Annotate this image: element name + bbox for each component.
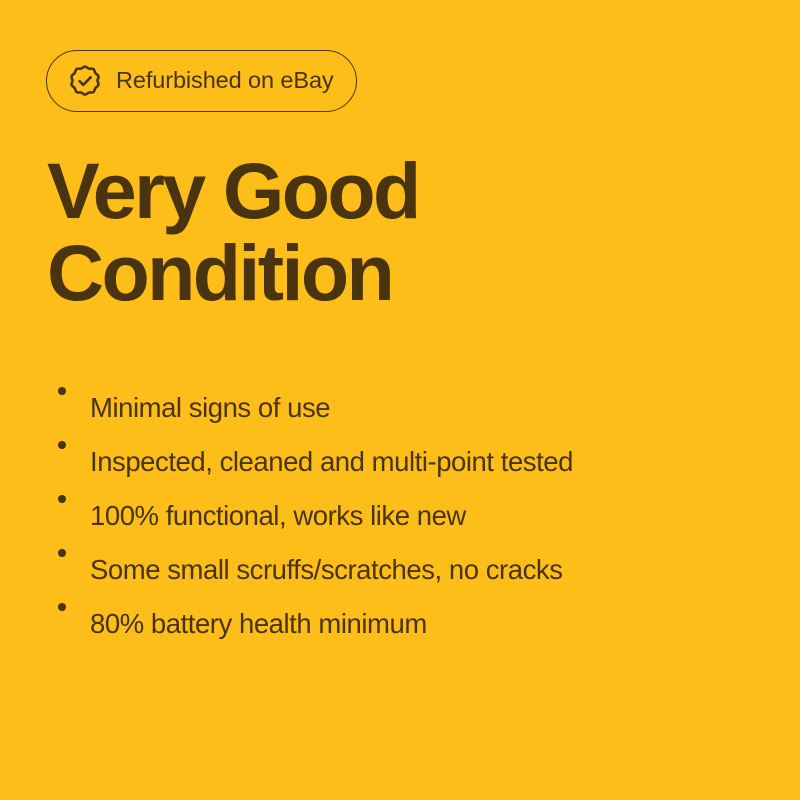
list-item: Some small scruffs/scratches, no cracks	[52, 525, 772, 579]
bullet-icon	[52, 471, 90, 525]
page-title-line-1: Very Good	[47, 150, 419, 232]
page-title: Very Good Condition	[47, 150, 419, 314]
refurbished-condition-card: Refurbished on eBay Very Good Condition …	[0, 0, 800, 800]
bullet-icon	[52, 525, 90, 579]
list-item: Minimal signs of use	[52, 363, 772, 417]
list-item: 80% battery health minimum	[52, 579, 772, 633]
verified-badge-check-icon	[68, 64, 102, 98]
condition-feature-list: Minimal signs of use Inspected, cleaned …	[52, 363, 772, 633]
bullet-icon	[52, 363, 90, 417]
refurbished-badge: Refurbished on eBay	[46, 50, 357, 112]
bullet-icon	[52, 417, 90, 471]
list-item: Inspected, cleaned and multi-point teste…	[52, 417, 772, 471]
list-item: 100% functional, works like new	[52, 471, 772, 525]
page-title-line-2: Condition	[47, 232, 419, 314]
list-item-label: 80% battery health minimum	[90, 597, 427, 651]
refurbished-badge-label: Refurbished on eBay	[116, 69, 334, 93]
bullet-icon	[52, 579, 90, 633]
